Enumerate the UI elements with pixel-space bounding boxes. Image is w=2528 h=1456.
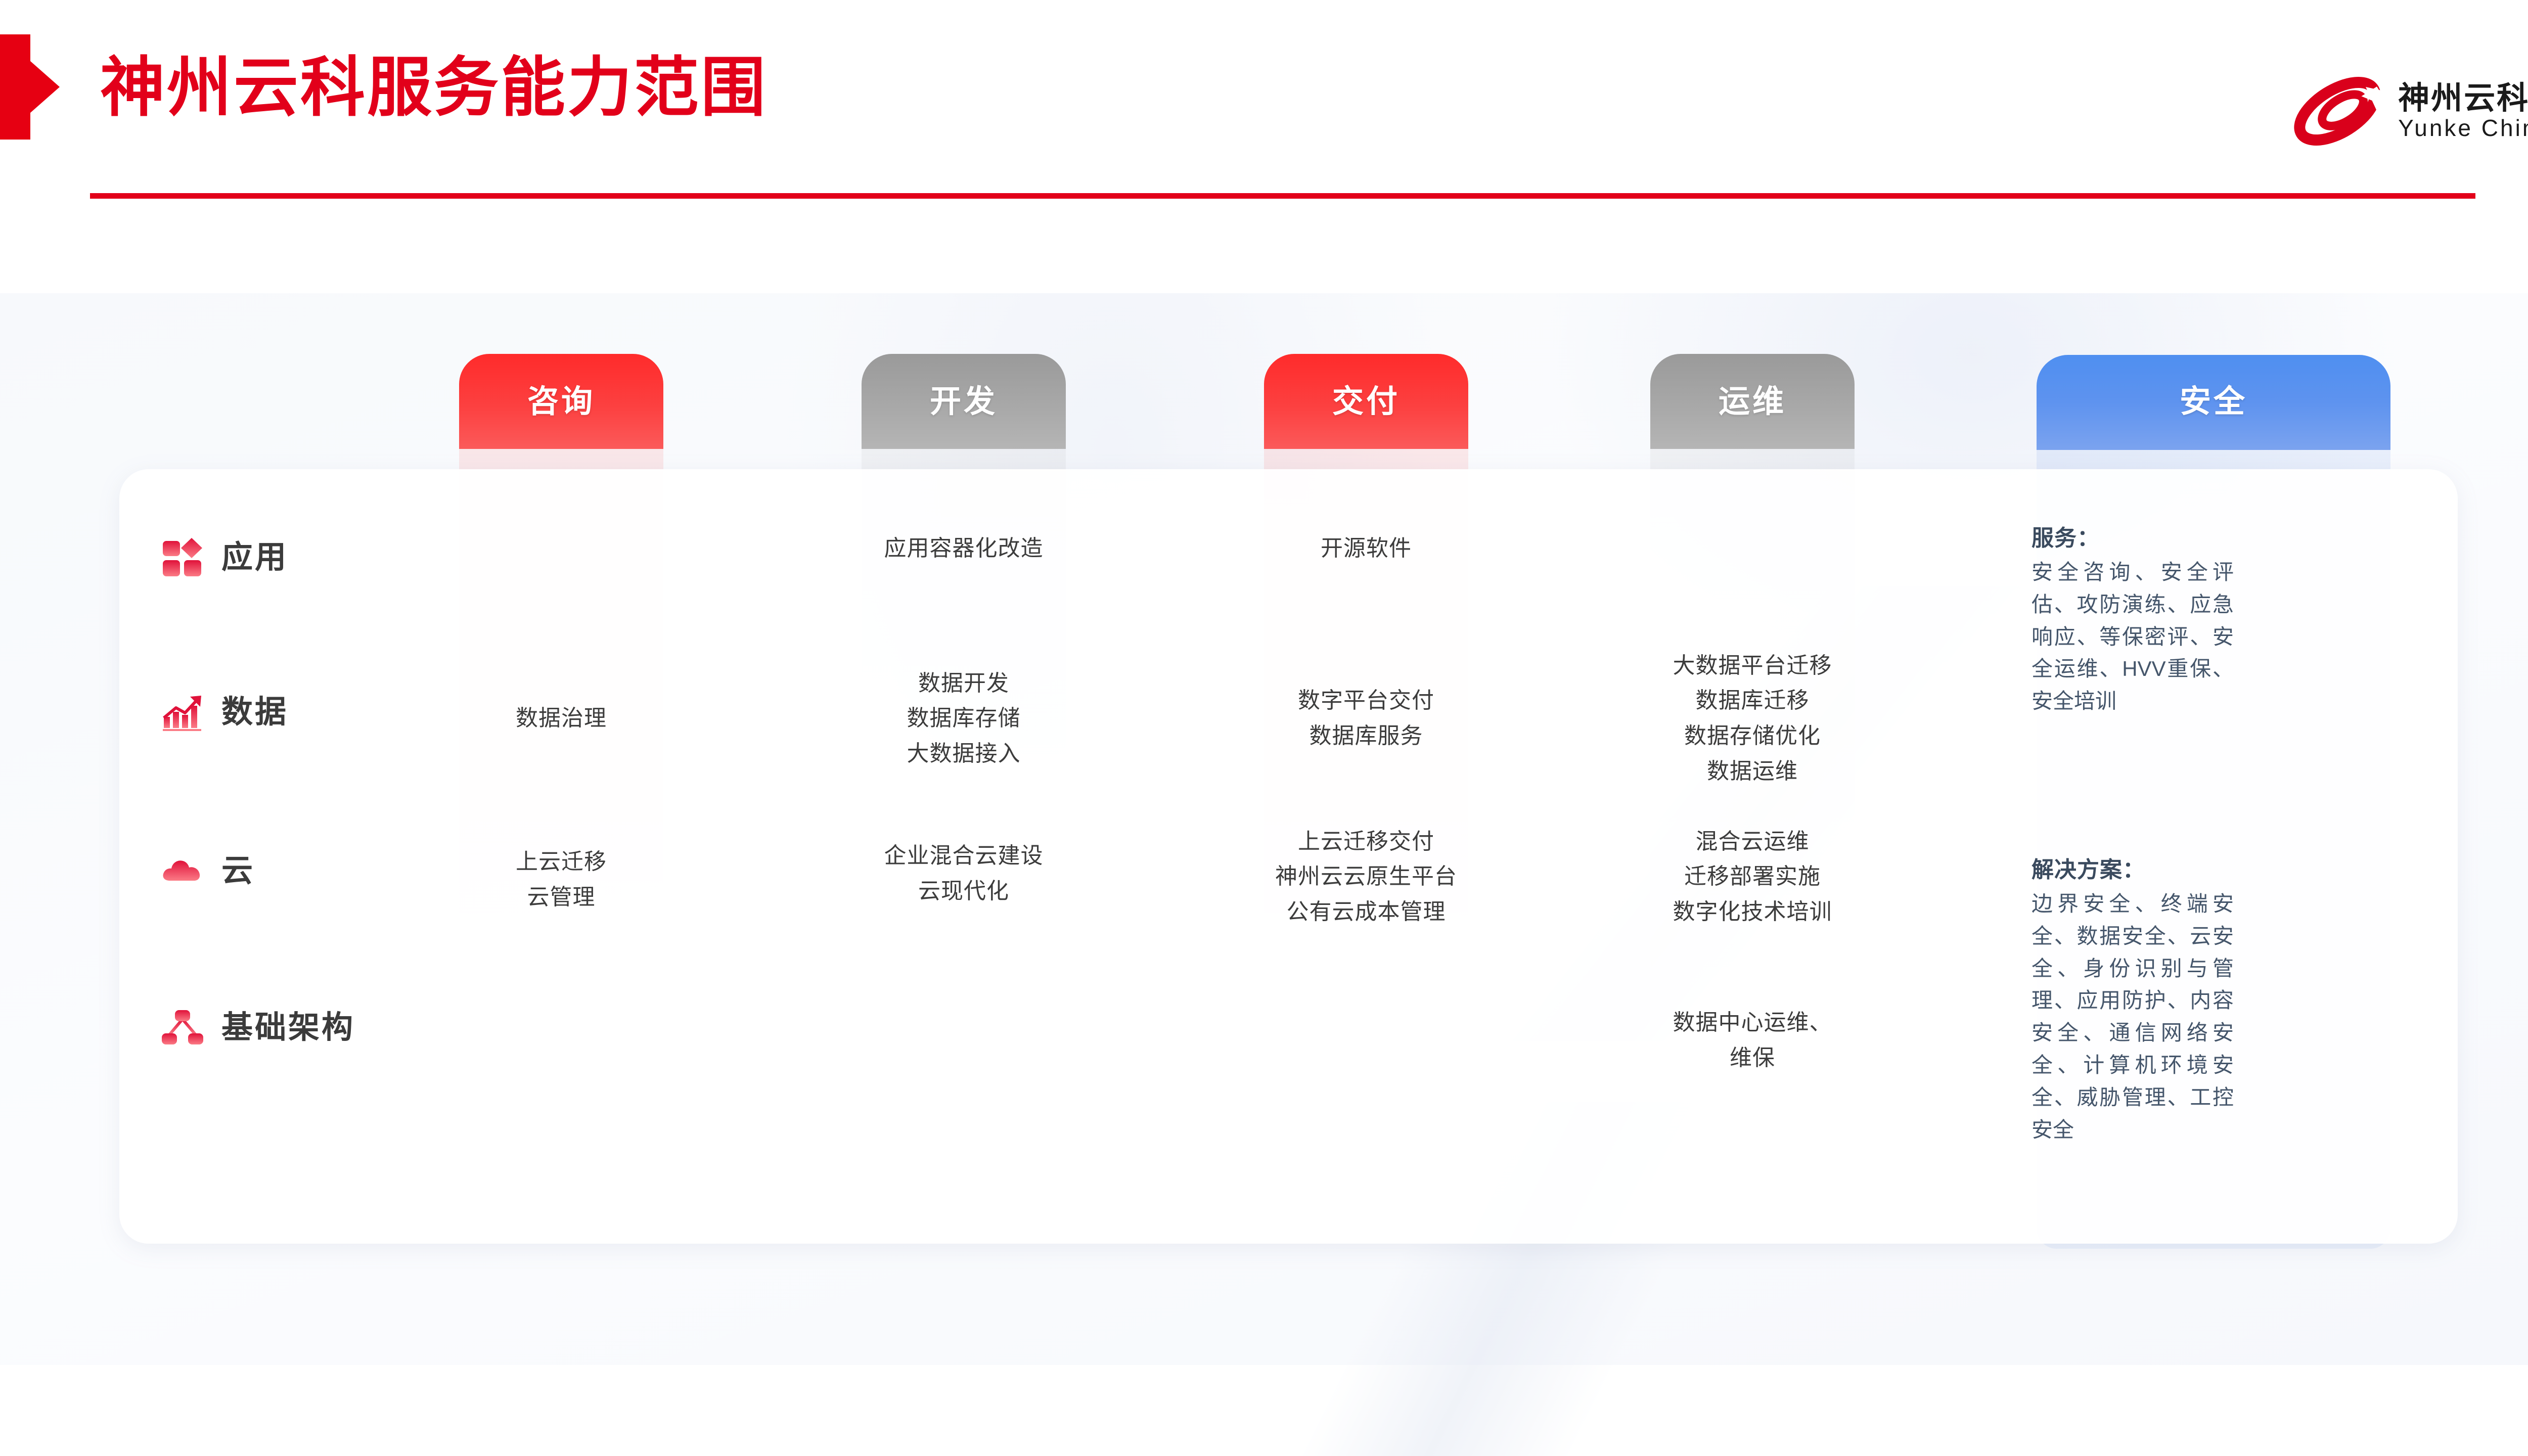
cell-infrastructure-development xyxy=(862,995,1066,1096)
logo-company-cn: 神州云科 xyxy=(2398,83,2528,114)
header-arrow-icon xyxy=(0,34,60,140)
row-label-application: 应用 xyxy=(161,536,288,579)
row-label-cloud: 云 xyxy=(161,849,255,893)
column-header-delivery[interactable]: 交付 xyxy=(1264,386,1468,418)
column-header-operations[interactable]: 运维 xyxy=(1650,386,1855,418)
cell-data-delivery: 数字平台交付数据库服务 xyxy=(1264,660,1468,777)
column-header-development[interactable]: 开发 xyxy=(862,386,1066,418)
cell-data-consulting: 数据治理 xyxy=(459,660,663,777)
cell-data-operations: 大数据平台迁移数据库迁移 数据存储优化数据运维 xyxy=(1650,645,1855,792)
app-blocks-icon xyxy=(161,536,204,579)
slide-root: 神州云科服务能力范围 神州云科 Yunke China 咨询 开发 交付 运维 … xyxy=(0,0,2528,1456)
row-label-text: 数据 xyxy=(221,697,288,728)
cell-cloud-operations: 混合云运维迁移部署实施数字化技术培训 xyxy=(1650,816,1855,937)
bar-chart-arrow-icon xyxy=(161,691,204,734)
row-label-infrastructure: 基础架构 xyxy=(161,1006,355,1050)
cell-application-consulting xyxy=(459,500,663,597)
row-label-text: 基础架构 xyxy=(221,1012,355,1043)
cell-infrastructure-consulting xyxy=(459,995,663,1096)
header-divider-rule xyxy=(90,193,2475,199)
cell-application-operations xyxy=(1650,500,1855,597)
row-label-data: 数据 xyxy=(161,691,288,734)
column-header-security[interactable]: 安全 xyxy=(2037,386,2390,418)
cell-application-delivery: 开源软件 xyxy=(1264,500,1468,597)
cell-infrastructure-operations: 数据中心运维、维保 xyxy=(1650,990,1855,1091)
cell-infrastructure-delivery xyxy=(1264,995,1468,1096)
cell-cloud-delivery: 上云迁移交付神州云云原生平台公有云成本管理 xyxy=(1264,816,1468,937)
security-service-title: 服务： xyxy=(2032,522,2234,555)
logo-company-en: Yunke China xyxy=(2398,116,2528,140)
company-logo: 神州云科 Yunke China xyxy=(2290,76,2528,147)
row-label-text: 应用 xyxy=(221,542,288,573)
page-title: 神州云科服务能力范围 xyxy=(100,51,768,125)
cell-data-development: 数据开发数据库存储大数据接入 xyxy=(862,655,1066,782)
cell-application-development: 应用容器化改造 xyxy=(862,500,1066,597)
column-header-consulting[interactable]: 咨询 xyxy=(459,386,663,418)
security-solution-block: 解决方案： 边界安全、终端安全、数据安全、云安全、身份识别与管理、应用防护、内容… xyxy=(2032,853,2234,1146)
cell-cloud-development: 企业混合云建设云现代化 xyxy=(862,823,1066,924)
swoosh-logo-icon xyxy=(2290,76,2385,147)
security-service-block: 服务： 安全咨询、安全评估、攻防演练、应急响应、等保密评、安全运维、HVV重保、… xyxy=(2032,522,2234,717)
row-label-text: 云 xyxy=(221,855,255,887)
cell-cloud-consulting: 上云迁移云管理 xyxy=(459,829,663,930)
security-solution-title: 解决方案： xyxy=(2032,853,2234,887)
security-service-body: 安全咨询、安全评估、攻防演练、应急响应、等保密评、安全运维、HVV重保、安全培训 xyxy=(2032,556,2234,717)
cloud-icon xyxy=(161,849,204,893)
security-solution-body: 边界安全、终端安全、数据安全、云安全、身份识别与管理、应用防护、内容安全、通信网… xyxy=(2032,888,2234,1146)
network-nodes-icon xyxy=(161,1006,204,1050)
